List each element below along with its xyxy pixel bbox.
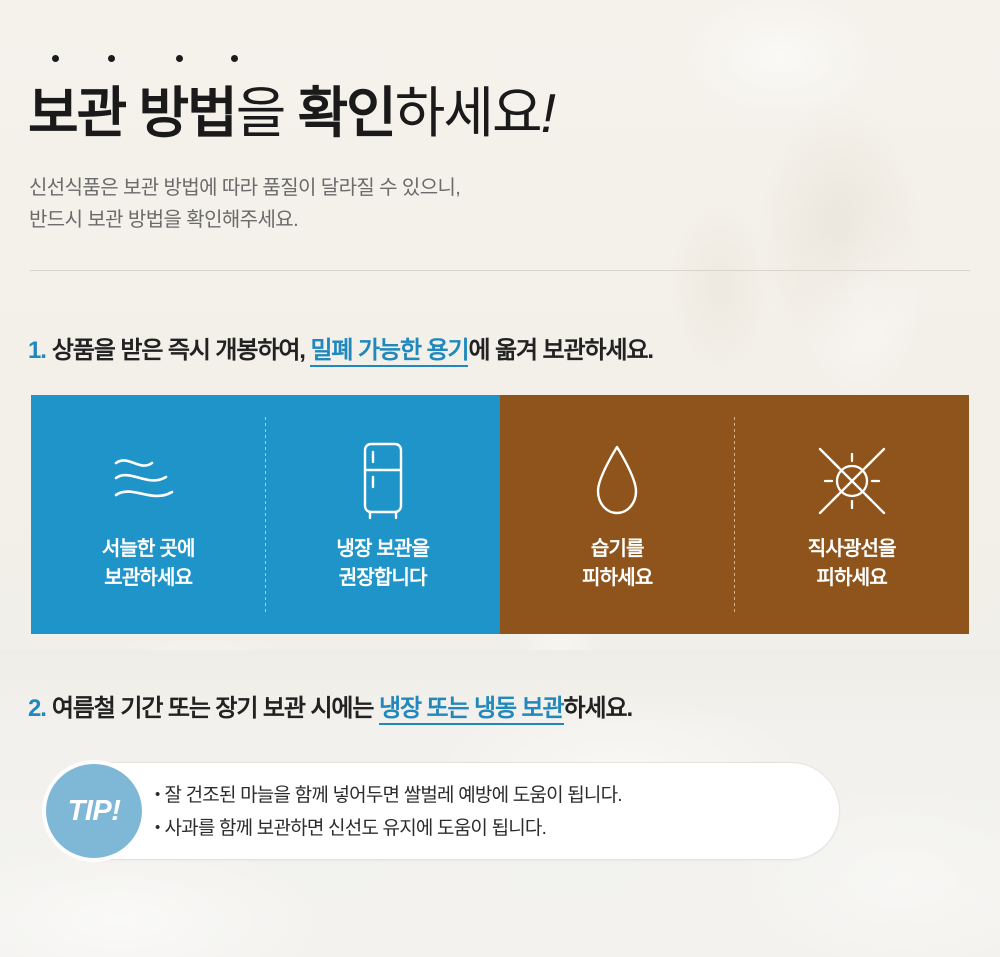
- no-sunlight-icon: [812, 439, 892, 523]
- decorative-dots: [0, 55, 300, 69]
- panel-cell-avoid-humidity: 습기를 피하세요: [500, 395, 735, 634]
- wind-waves-icon: [108, 439, 188, 523]
- step-2-text-after: 하세요.: [564, 695, 633, 722]
- panel-cell-label: 직사광선을 피하세요: [808, 535, 896, 593]
- panel-cell-avoid-sunlight: 직사광선을 피하세요: [735, 395, 970, 634]
- refrigerator-icon: [356, 439, 410, 523]
- decorative-dot: [231, 55, 238, 62]
- panel-cell-label: 냉장 보관을 권장합니다: [336, 535, 429, 593]
- cell-label-line-1: 서늘한 곳에: [102, 535, 195, 564]
- title-part-3: 확인: [298, 82, 395, 144]
- panel-cell-refrigerate: 냉장 보관을 권장합니다: [266, 395, 501, 634]
- step-1-text-before: 상품을 받은 즉시 개봉하여,: [52, 337, 311, 364]
- cell-label-line-2: 피하세요: [582, 564, 652, 593]
- subtitle-line-1: 신선식품은 보관 방법에 따라 품질이 달라질 수 있으니,: [29, 172, 460, 204]
- tip-badge-label: TIP!: [68, 795, 121, 828]
- cell-label-line-1: 습기를: [582, 535, 652, 564]
- cell-label-line-2: 권장합니다: [336, 564, 429, 593]
- title-part-1: 보관 방법: [28, 82, 236, 144]
- tip-list-item: •잘 건조된 마늘을 함께 넣어두면 쌀벌레 예방에 도움이 됩니다.: [155, 779, 845, 812]
- page-subtitle: 신선식품은 보관 방법에 따라 품질이 달라질 수 있으니, 반드시 보관 방법…: [29, 172, 460, 236]
- header-divider: [30, 270, 970, 271]
- panel-cell-label: 서늘한 곳에 보관하세요: [102, 535, 195, 593]
- storage-icon-panel: 서늘한 곳에 보관하세요 냉장 보관을 권장합니다: [31, 395, 969, 634]
- step-1-heading: 1.상품을 받은 즉시 개봉하여, 밀폐 가능한 용기에 옮겨 보관하세요.: [28, 330, 653, 365]
- title-part-4: 하세요: [395, 82, 541, 144]
- step-2-highlight: 냉장 또는 냉동 보관: [379, 695, 564, 725]
- decorative-dot: [52, 55, 59, 62]
- cell-label-line-1: 냉장 보관을: [336, 535, 429, 564]
- panel-cell-cool-place: 서늘한 곳에 보관하세요: [31, 395, 266, 634]
- water-drop-icon: [591, 439, 643, 523]
- step-2-text-before: 여름철 기간 또는 장기 보관 시에는: [52, 695, 379, 722]
- tip-list: •잘 건조된 마늘을 함께 넣어두면 쌀벌레 예방에 도움이 됩니다. •사과를…: [155, 779, 845, 845]
- tip-badge: TIP!: [46, 764, 142, 858]
- title-part-2: 을: [236, 82, 298, 144]
- cell-label-line-1: 직사광선을: [808, 535, 896, 564]
- decorative-dot: [108, 55, 115, 62]
- tip-bullet-icon: •: [155, 786, 159, 803]
- tip-bullet-icon: •: [155, 819, 159, 836]
- step-1-number: 1.: [28, 337, 46, 364]
- page-title: 보관 방법을 확인하세요!: [28, 82, 554, 144]
- step-2-heading: 2.여름철 기간 또는 장기 보관 시에는 냉장 또는 냉동 보관하세요.: [28, 688, 632, 723]
- tip-item-text: 사과를 함께 보관하면 신선도 유지에 도움이 됩니다.: [164, 818, 546, 839]
- tip-list-item: •사과를 함께 보관하면 신선도 유지에 도움이 됩니다.: [155, 812, 845, 845]
- cell-label-line-2: 보관하세요: [102, 564, 195, 593]
- step-2-number: 2.: [28, 695, 46, 722]
- decorative-dot: [176, 55, 183, 62]
- step-1-text-after: 에 옮겨 보관하세요.: [468, 337, 653, 364]
- step-1-highlight: 밀폐 가능한 용기: [310, 337, 468, 367]
- panel-cell-label: 습기를 피하세요: [582, 535, 652, 593]
- title-exclamation: !: [541, 82, 554, 144]
- subtitle-line-2: 반드시 보관 방법을 확인해주세요.: [29, 204, 460, 236]
- tip-item-text: 잘 건조된 마늘을 함께 넣어두면 쌀벌레 예방에 도움이 됩니다.: [164, 785, 621, 806]
- cell-label-line-2: 피하세요: [808, 564, 896, 593]
